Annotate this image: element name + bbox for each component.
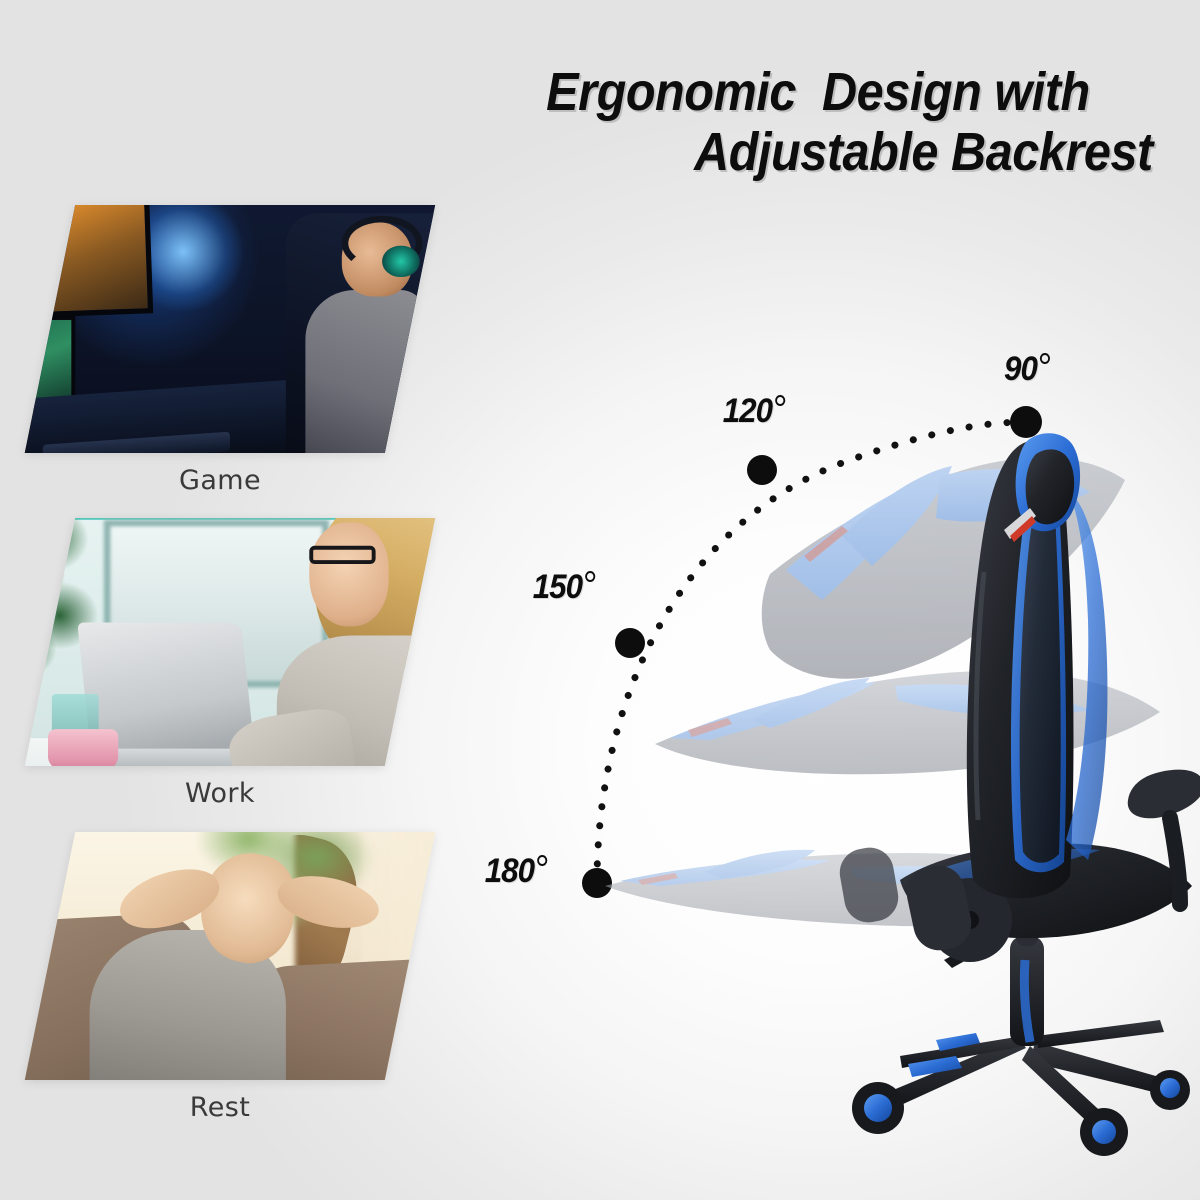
arc-node-120[interactable] (747, 455, 777, 485)
arc-node-90[interactable] (1010, 406, 1042, 438)
gamer-body-decor (305, 290, 427, 453)
photo-caption-rest: Rest (0, 1092, 440, 1123)
photo-caption-work: Work (0, 778, 440, 809)
use-case-card-rest: Rest (0, 832, 470, 1123)
page-title-line-2: Adjustable Backrest (116, 122, 1160, 182)
recline-diagram-svg (470, 320, 1200, 1200)
photo-game (25, 205, 435, 453)
angle-label-90-value: 90 (1004, 350, 1037, 388)
photo-rest (25, 832, 435, 1080)
photo-work (25, 518, 435, 766)
monitor-second-decor (25, 316, 76, 406)
degree-symbol-icon (585, 571, 595, 582)
recline-diagram: 90 120 150 180 (470, 320, 1200, 1200)
angle-label-180-value: 180 (485, 852, 534, 890)
use-case-card-game: Game (0, 205, 470, 496)
chair-base-assembly (852, 924, 1190, 1156)
page-title: Ergonomic Design with Adjustable Backres… (0, 62, 1160, 183)
page-title-line-1: Ergonomic Design with (116, 62, 1160, 122)
arc-node-180[interactable] (582, 868, 612, 898)
photo-caption-game: Game (0, 465, 440, 496)
angle-label-150-value: 150 (533, 568, 582, 606)
angle-label-90: 90 (1004, 350, 1050, 389)
arc-node-150[interactable] (615, 628, 645, 658)
degree-symbol-icon (1040, 353, 1050, 364)
degree-symbol-icon (537, 855, 547, 866)
coffee-cup-decor (47, 729, 117, 766)
angle-label-150: 150 (533, 568, 595, 607)
use-case-card-work: Work (0, 518, 470, 809)
worker-face-decor (310, 523, 390, 626)
headset-earcup-decor (382, 245, 419, 277)
angle-label-120-value: 120 (723, 392, 772, 430)
angle-label-180: 180 (485, 852, 547, 891)
photo-frame-game (25, 205, 435, 453)
glasses-decor (310, 545, 376, 564)
degree-symbol-icon (775, 395, 785, 406)
photo-frame-work (25, 518, 435, 766)
photo-frame-rest (25, 832, 435, 1080)
angle-label-120: 120 (723, 392, 785, 431)
monitor-primary-decor (25, 205, 153, 319)
